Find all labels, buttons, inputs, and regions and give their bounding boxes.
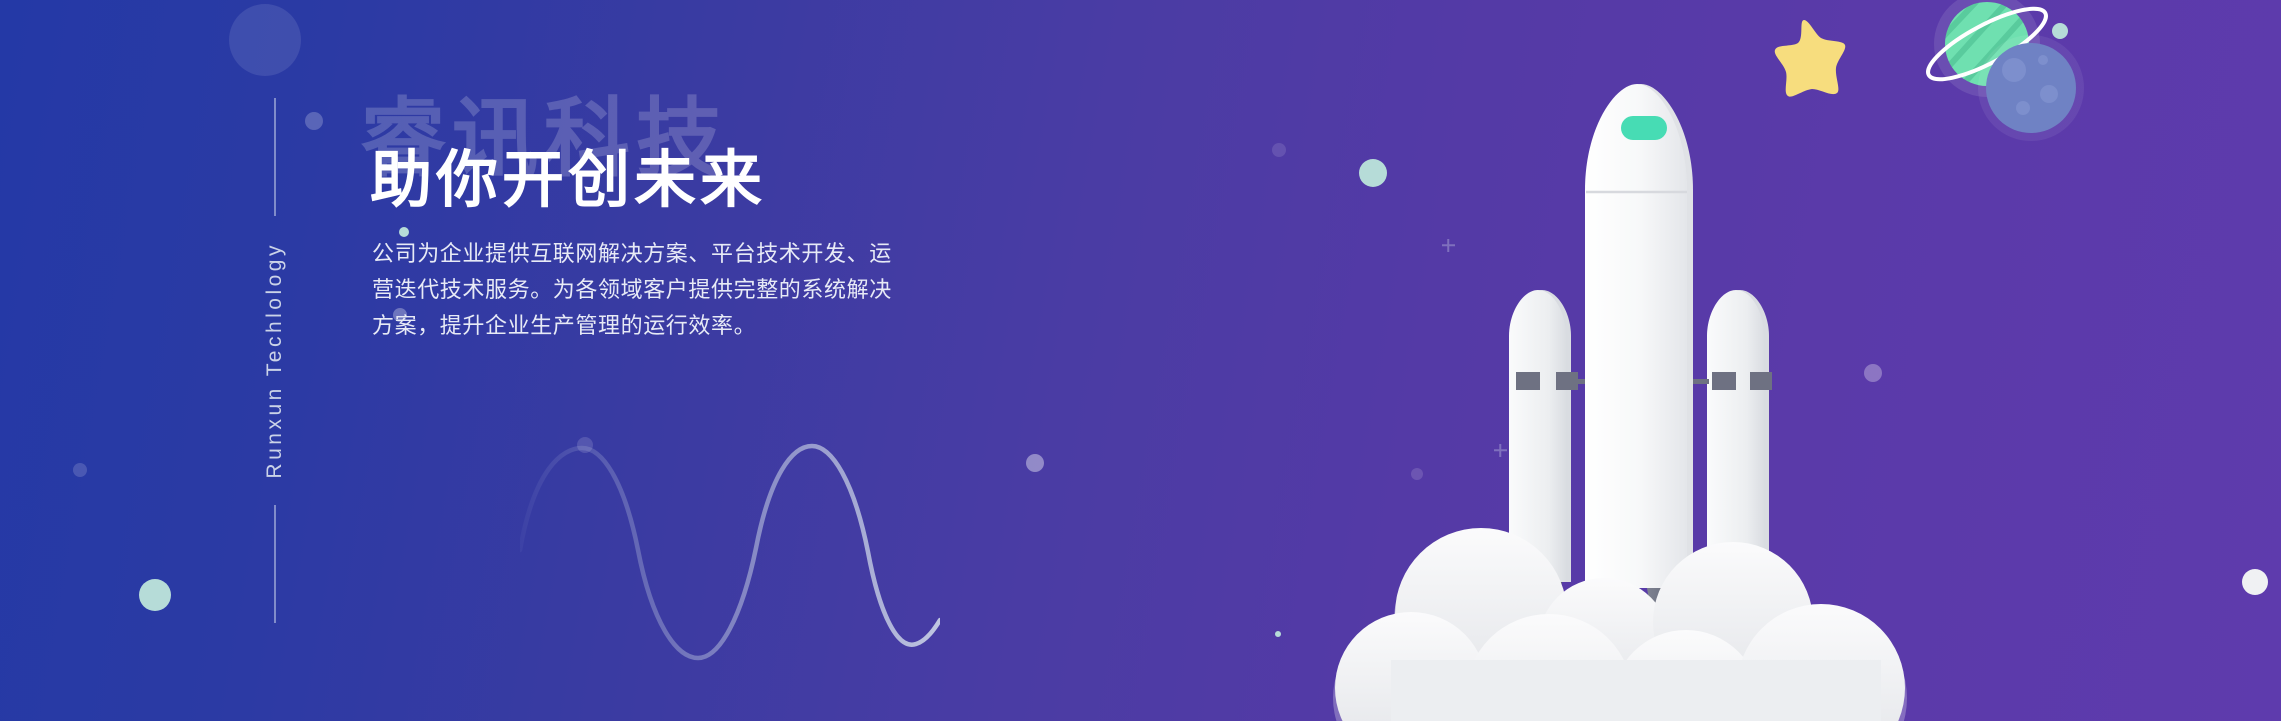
hero-banner: Runxun Techlology 睿讯科技 助你开创未来 公司为企业提供互联网… xyxy=(0,0,2281,721)
dot-left-faint xyxy=(73,463,87,477)
page-title: 助你开创未来 xyxy=(370,146,766,215)
vertical-brand-label: Runxun Techlology xyxy=(263,216,287,505)
rocket-window xyxy=(1621,116,1667,140)
booster-right-block-b xyxy=(1750,372,1772,390)
vertical-brand-line-top xyxy=(274,98,276,216)
booster-right-block-a xyxy=(1712,372,1736,390)
rocket-main-body xyxy=(1585,84,1693,588)
rocket-booster-right xyxy=(1687,290,1772,582)
sine-wave-graphic xyxy=(520,430,940,680)
star-icon xyxy=(1775,20,1846,97)
planet-moon xyxy=(1978,35,2084,141)
booster-left-block-a xyxy=(1516,372,1540,390)
rocket-illustration xyxy=(1281,0,2281,721)
vertical-brand-line-bottom xyxy=(274,505,276,623)
rocket-booster-left xyxy=(1509,290,1598,582)
dot-teal-left xyxy=(139,579,171,611)
booster-left-block-b xyxy=(1556,372,1578,390)
dot-upper-left-small xyxy=(305,112,323,130)
hero-description: 公司为企业提供互联网解决方案、平台技术开发、运营迭代技术服务。为各领域客户提供完… xyxy=(372,236,902,344)
dot-wave-right xyxy=(1026,454,1044,472)
vertical-brand: Runxun Techlology xyxy=(252,0,298,721)
